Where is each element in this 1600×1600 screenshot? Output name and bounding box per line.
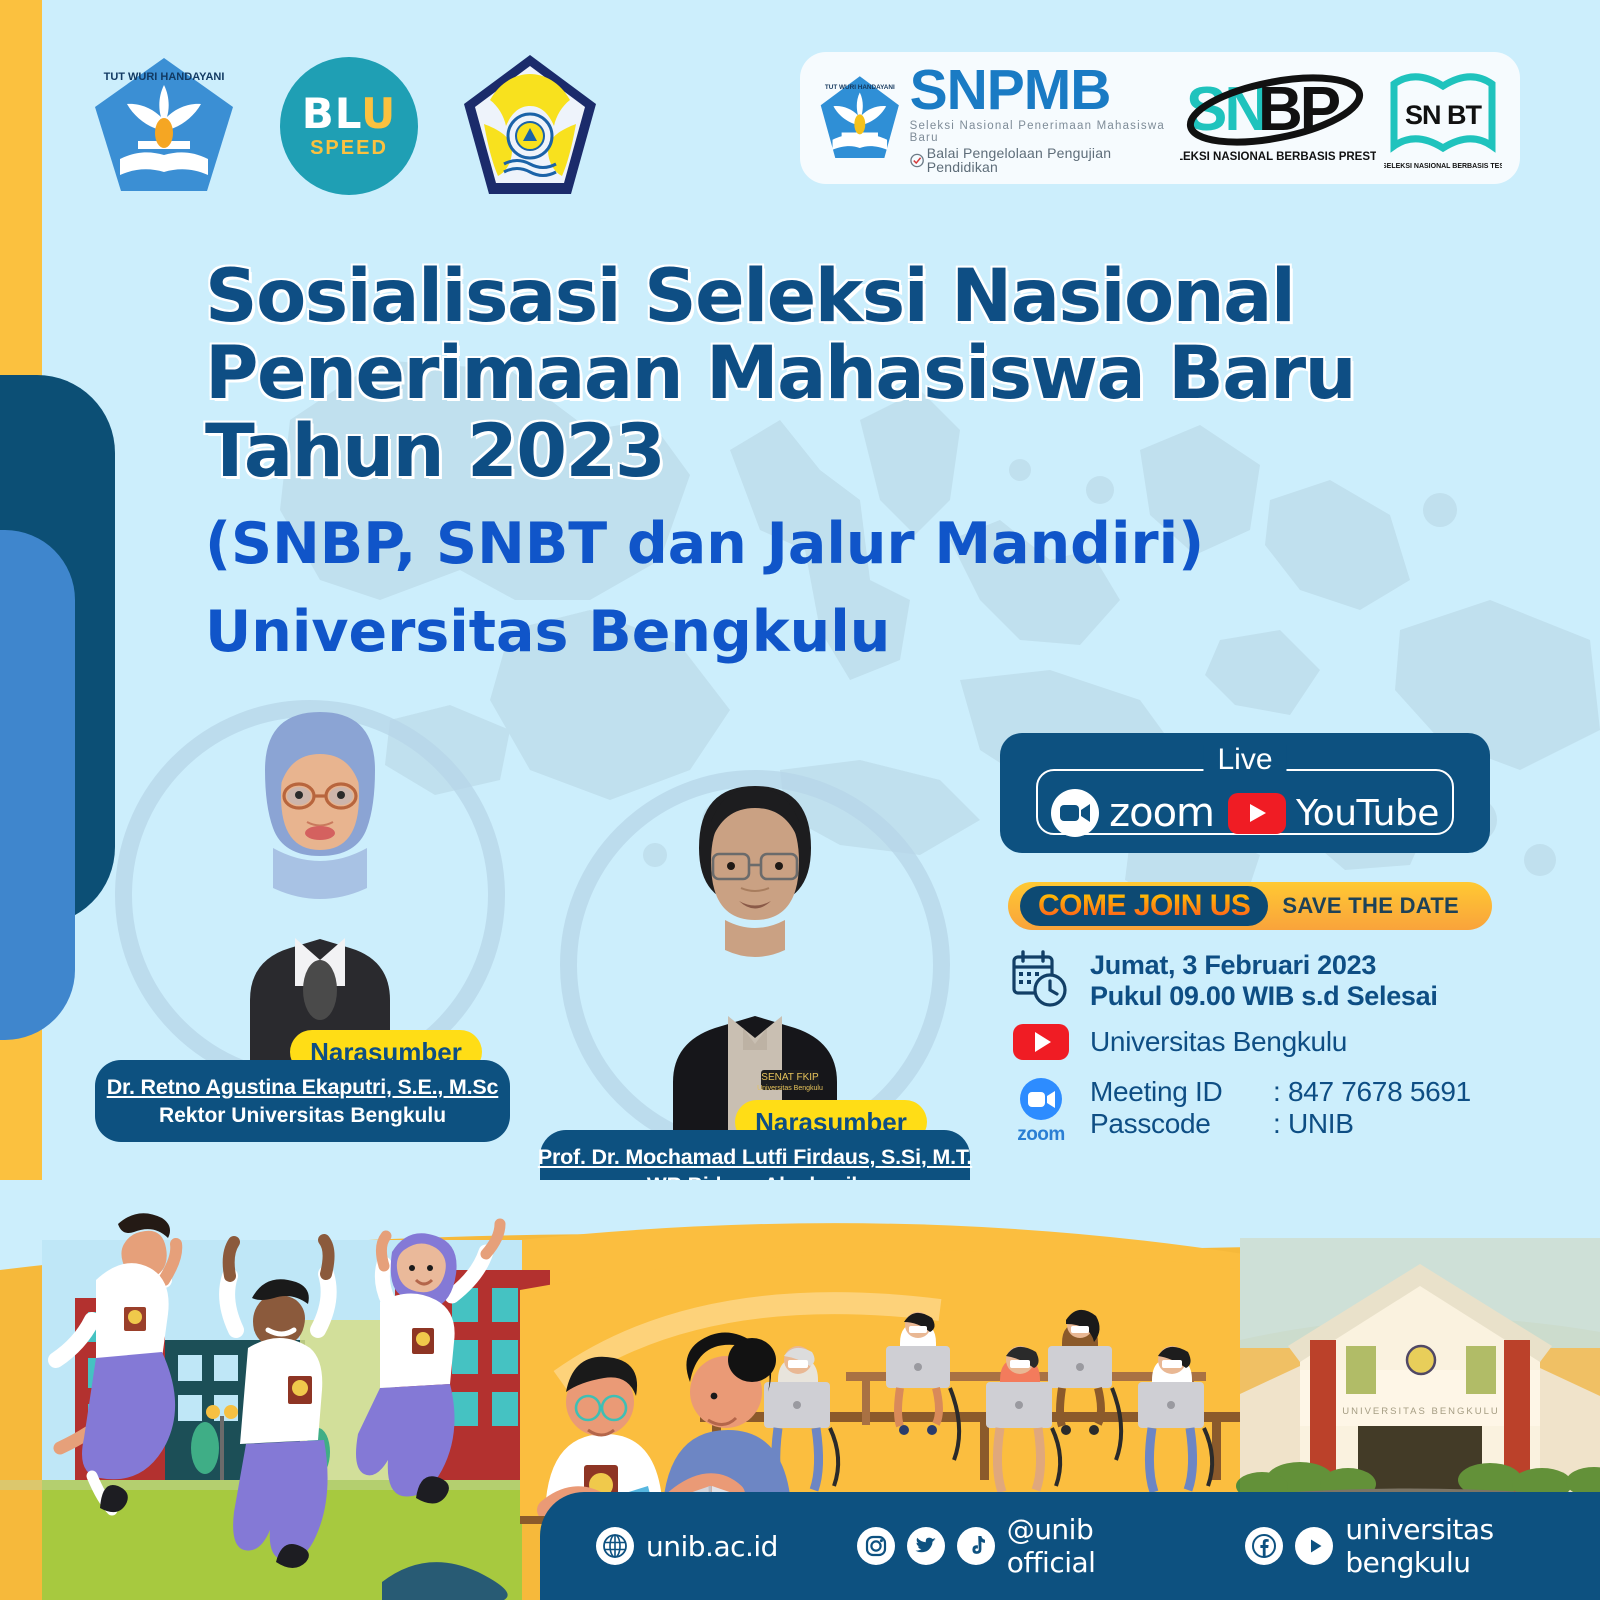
event-date: Jumat, 3 Februari 2023 bbox=[1090, 950, 1438, 981]
snpmb-logo: TUT WURI HANDAYANI SNPMB Seleksi Nasiona… bbox=[818, 62, 1172, 174]
footer-website-label: unib.ac.id bbox=[646, 1530, 778, 1563]
come-join-us-label: COME JOIN US bbox=[1038, 889, 1250, 923]
snpmb-subtitle-2-row: Balai Pengelolaan Pengujian Pendidikan bbox=[910, 146, 1172, 174]
universitas-bengkulu-icon bbox=[460, 52, 600, 200]
save-the-date-banner: COME JOIN US SAVE THE DATE bbox=[1008, 882, 1492, 930]
detail-row-datetime: Jumat, 3 Februari 2023 Pukul 09.00 WIB s… bbox=[1010, 950, 1510, 1012]
footer-bar: unib.ac.id @unib official bbox=[540, 1492, 1600, 1600]
video-play-icon bbox=[1295, 1527, 1333, 1565]
svg-text:SENAT FKIP: SENAT FKIP bbox=[761, 1072, 819, 1083]
tiktok-icon bbox=[957, 1527, 995, 1565]
instagram-icon bbox=[857, 1527, 895, 1565]
left-blue-shape bbox=[0, 530, 75, 1040]
passcode-key: Passcode bbox=[1090, 1108, 1273, 1140]
kemdikbud-icon: TUT WURI HANDAYANI bbox=[818, 70, 902, 166]
meeting-id-key: Meeting ID bbox=[1090, 1076, 1273, 1108]
zoom-wordmark: zoom bbox=[1017, 1124, 1065, 1146]
snbt-logo: SN BT SELEKSI NASIONAL BERBASIS TES bbox=[1384, 62, 1502, 174]
globe-icon bbox=[596, 1527, 634, 1565]
title-line-3: Tahun 2023 bbox=[205, 413, 1505, 490]
snpmb-logo-card: TUT WURI HANDAYANI SNPMB Seleksi Nasiona… bbox=[800, 52, 1520, 184]
footer-facebook-group[interactable]: universitas bengkulu bbox=[1245, 1513, 1600, 1579]
youtube-icon bbox=[1228, 793, 1286, 834]
youtube-mark[interactable]: YouTube bbox=[1228, 793, 1439, 834]
poster-canvas: TUT WURI HANDAYANI BLU SPEED bbox=[0, 0, 1600, 1600]
snpmb-subtitle-2: Balai Pengelolaan Pengujian Pendidikan bbox=[927, 146, 1172, 174]
youtube-channel-name: Universitas Bengkulu bbox=[1090, 1026, 1347, 1058]
speaker-1-plate: Dr. Retno Agustina Ekaputri, S.E., M.Sc … bbox=[95, 1060, 510, 1142]
youtube-channel-icon bbox=[1010, 1022, 1072, 1062]
speaker-1-name: Dr. Retno Agustina Ekaputri, S.E., M.Sc bbox=[107, 1075, 499, 1100]
blu-wordmark: BLU bbox=[302, 93, 396, 135]
check-circle-icon bbox=[910, 153, 924, 168]
footer-social-handle: @unib official bbox=[1007, 1513, 1167, 1579]
svg-text:Universitas Bengkulu: Universitas Bengkulu bbox=[757, 1085, 823, 1092]
speaker-2-name: Prof. Dr. Mochamad Lutfi Firdaus, S.Si, … bbox=[538, 1145, 972, 1170]
zoom-mark[interactable]: zoom bbox=[1051, 789, 1214, 837]
title-line-1: Sosialisasi Seleksi Nasional bbox=[205, 258, 1505, 335]
come-join-us-pill: COME JOIN US bbox=[1020, 886, 1268, 926]
live-broadcast-panel: Live zoom YouTube bbox=[1000, 733, 1490, 853]
footer-website-group[interactable]: unib.ac.id bbox=[596, 1527, 778, 1565]
title-line-2: Penerimaan Mahasiswa Baru bbox=[205, 335, 1505, 412]
partner-logo-row: TUT WURI HANDAYANI BLU SPEED bbox=[90, 52, 600, 200]
zoom-meeting-icon: zoom bbox=[1010, 1076, 1072, 1146]
svg-text:SN BT: SN BT bbox=[1405, 100, 1483, 130]
svg-text:SELEKSI NASIONAL BERBASIS PRES: SELEKSI NASIONAL BERBASIS PRESTASI bbox=[1180, 151, 1376, 163]
speaker-1-role: Rektor Universitas Bengkulu bbox=[159, 1104, 446, 1128]
live-platform-row: zoom YouTube bbox=[1000, 789, 1490, 837]
zoom-label: zoom bbox=[1109, 790, 1214, 836]
passcode-row: Passcode : UNIB bbox=[1090, 1108, 1471, 1140]
twitter-icon bbox=[907, 1527, 945, 1565]
snbp-logo: SN BP SELEKSI NASIONAL BERBASIS PRESTASI bbox=[1180, 66, 1376, 170]
meeting-id-row: Meeting ID : 847 7678 5691 bbox=[1090, 1076, 1471, 1108]
title-subline-2: Universitas Bengkulu bbox=[205, 600, 1505, 666]
calendar-clock-icon bbox=[1010, 950, 1072, 1008]
svg-text:TUT WURI HANDAYANI: TUT WURI HANDAYANI bbox=[104, 71, 225, 83]
snpmb-title: SNPMB bbox=[910, 62, 1172, 119]
blu-speed-tagline: SPEED bbox=[310, 137, 388, 160]
live-label: Live bbox=[1203, 745, 1286, 775]
title-subline-1: (SNBP, SNBT dan Jalur Mandiri) bbox=[205, 512, 1505, 578]
event-time: Pukul 09.00 WIB s.d Selesai bbox=[1090, 981, 1438, 1012]
meeting-id-value: : 847 7678 5691 bbox=[1273, 1076, 1471, 1108]
svg-text:SELEKSI NASIONAL BERBASIS TES: SELEKSI NASIONAL BERBASIS TES bbox=[1384, 163, 1502, 170]
save-the-date-label: SAVE THE DATE bbox=[1282, 893, 1459, 919]
svg-text:TUT WURI HANDAYANI: TUT WURI HANDAYANI bbox=[825, 84, 895, 91]
poster-title-block: Sosialisasi Seleksi Nasional Penerimaan … bbox=[205, 258, 1505, 665]
zoom-icon bbox=[1051, 789, 1099, 837]
event-details: Jumat, 3 Februari 2023 Pukul 09.00 WIB s… bbox=[1010, 950, 1510, 1156]
passcode-value: : UNIB bbox=[1273, 1108, 1354, 1140]
tut-wuri-handayani-icon: TUT WURI HANDAYANI bbox=[90, 55, 238, 197]
facebook-icon bbox=[1245, 1527, 1283, 1565]
detail-row-zoom: zoom Meeting ID : 847 7678 5691 Passcode… bbox=[1010, 1076, 1510, 1146]
footer-social-group[interactable]: @unib official bbox=[857, 1513, 1167, 1579]
blu-speed-icon: BLU SPEED bbox=[280, 57, 418, 195]
youtube-label: YouTube bbox=[1296, 793, 1439, 834]
detail-row-youtube: Universitas Bengkulu bbox=[1010, 1022, 1510, 1062]
snpmb-subtitle-1: Seleksi Nasional Penerimaan Mahasiswa Ba… bbox=[910, 121, 1172, 144]
footer-facebook-handle: universitas bengkulu bbox=[1345, 1513, 1600, 1579]
